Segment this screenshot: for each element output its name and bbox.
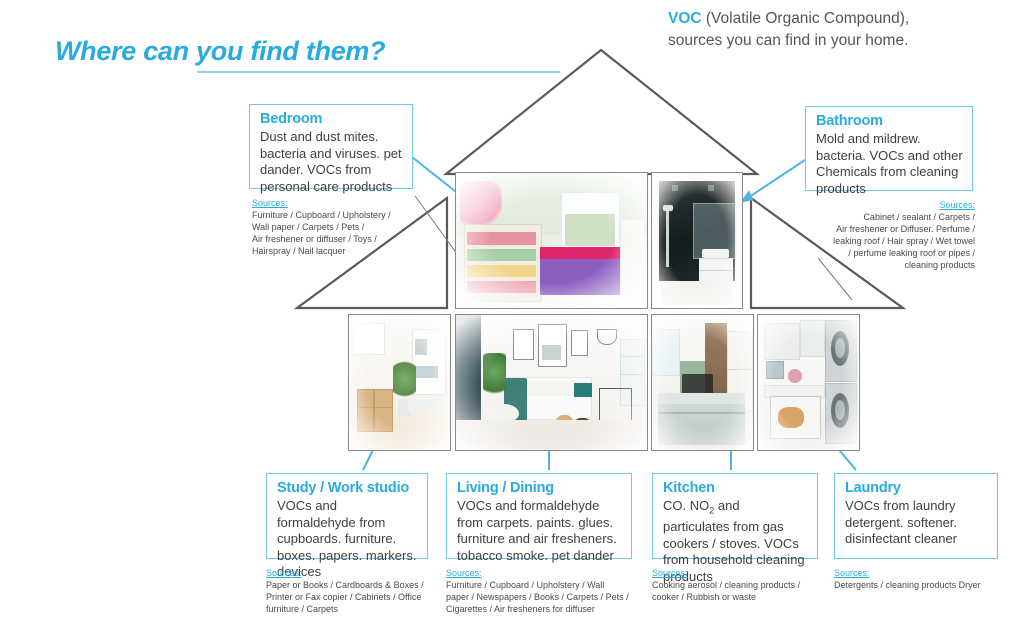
sources-bathroom: Sources: Cabinet / sealant / Carpets / A… [795, 199, 975, 271]
sources-label: Sources: [266, 567, 446, 579]
infographic-canvas: Where can you find them? VOC (Volatile O… [0, 0, 1024, 621]
sources-bedroom-line-1: Furniture / Cupboard / Upholstery / [252, 210, 391, 220]
callout-laundry[interactable]: Laundry VOCs from laundry detergent. sof… [834, 473, 998, 559]
callout-living[interactable]: Living / Dining VOCs and formaldehyde fr… [446, 473, 632, 559]
sources-kitchen-line-2: cooker / Rubbish or waste [652, 592, 756, 602]
sources-bathroom-line-5: cleaning products [904, 260, 975, 270]
voc-abbreviation: VOC [668, 10, 702, 27]
sources-laundry-line-1: Detergents / cleaning products Dryer [834, 580, 981, 590]
photo-laundry [757, 314, 860, 451]
sources-label: Sources: [252, 197, 430, 209]
sources-kitchen: Sources: Cooking aerosol / cleaning prod… [652, 567, 832, 603]
callout-kitchen-title: Kitchen [663, 480, 808, 496]
callout-bathroom-title: Bathroom [816, 113, 963, 129]
sources-kitchen-line-1: Cooking aerosol / cleaning products / [652, 580, 800, 590]
callout-study-title: Study / Work studio [277, 480, 418, 496]
callout-kitchen[interactable]: Kitchen CO. NO2 and particulates from ga… [652, 473, 818, 559]
photo-bedroom [455, 172, 648, 309]
sources-bathroom-line-4: / perfume leaking roof or pipes / [848, 248, 975, 258]
callout-bathroom-body: Mold and mildrew. bacteria. VOCs and oth… [816, 131, 963, 197]
callout-bedroom[interactable]: Bedroom Dust and dust mites. bacteria an… [249, 104, 413, 189]
sources-label: Sources: [652, 567, 832, 579]
callout-living-title: Living / Dining [457, 480, 622, 496]
sources-bathroom-line-3: leaking roof / Hair spray / Wet towel [833, 236, 975, 246]
sources-bedroom: Sources: Furniture / Cupboard / Upholste… [252, 197, 430, 257]
callout-bedroom-title: Bedroom [260, 111, 403, 127]
photo-living [455, 314, 648, 451]
intro-text: VOC (Volatile Organic Compound), sources… [668, 8, 1018, 52]
photo-study [348, 314, 451, 451]
sources-study-line-1: Paper or Books / Cardboards & Boxes / [266, 580, 424, 590]
sources-label: Sources: [446, 567, 642, 579]
sources-bedroom-line-4: Hairspray / Nail lacquer [252, 246, 346, 256]
callout-laundry-title: Laundry [845, 480, 988, 496]
sources-study-line-2: Printer or Fax copier / Cabinets / Offic… [266, 592, 421, 602]
sources-study: Sources: Paper or Books / Cardboards & B… [266, 567, 446, 615]
sources-laundry: Sources: Detergents / cleaning products … [834, 567, 1020, 591]
kitchen-body-pre: CO. NO [663, 498, 709, 513]
sources-label: Sources: [795, 199, 975, 211]
roof-main-triangle [446, 50, 757, 174]
arrow-line-bathroom [740, 160, 805, 203]
callout-bathroom[interactable]: Bathroom Mold and mildrew. bacteria. VOC… [805, 106, 973, 191]
sources-bedroom-line-3: Air freshener or diffuser / Toys / [252, 234, 377, 244]
intro-expansion: (Volatile Organic Compound), [702, 10, 910, 27]
intro-line-2: sources you can find in your home. [668, 32, 908, 49]
page-title: Where can you find them? [55, 36, 385, 67]
callout-study[interactable]: Study / Work studio VOCs and formaldehyd… [266, 473, 428, 559]
photo-bathroom [651, 172, 743, 309]
sources-bathroom-line-2: Air freshener or Diffuser. Perfume / [836, 224, 975, 234]
sources-bathroom-line-1: Cabinet / sealant / Carpets / [863, 212, 975, 222]
callout-bedroom-body: Dust and dust mites. bacteria and viruse… [260, 129, 403, 195]
sources-living-line-3: Cigarettes / Air fresheners for diffuser [446, 604, 595, 614]
sources-label: Sources: [834, 567, 1020, 579]
sources-bedroom-line-2: Wall paper / Carpets / Pets / [252, 222, 364, 232]
title-underline [197, 71, 560, 73]
sources-living: Sources: Furniture / Cupboard / Upholste… [446, 567, 642, 615]
callout-living-body: VOCs and formaldehyde from carpets. pain… [457, 498, 622, 564]
sources-living-line-2: paper / Newspapers / Books / Carpets / P… [446, 592, 629, 602]
photo-kitchen [651, 314, 754, 451]
sources-living-line-1: Furniture / Cupboard / Upholstery / Wall [446, 580, 604, 590]
sources-study-line-3: furniture / Carpets [266, 604, 338, 614]
callout-laundry-body: VOCs from laundry detergent. softener. d… [845, 498, 988, 548]
